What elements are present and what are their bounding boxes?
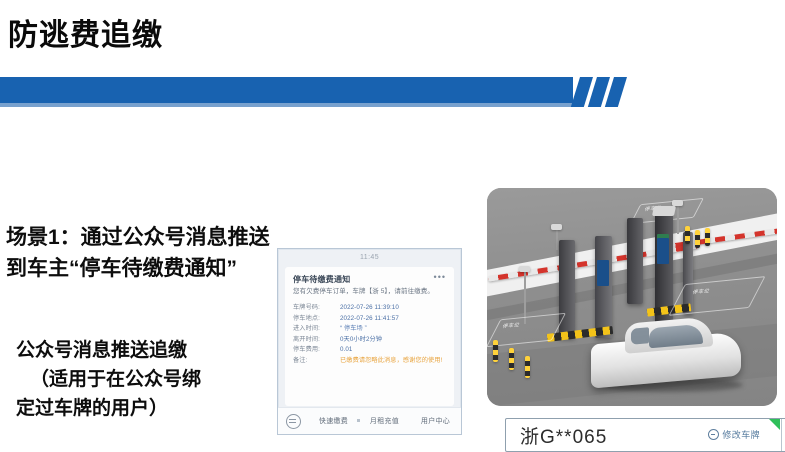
terminal-canopy <box>652 206 676 216</box>
table-row: 进入时间: “ 停车场 ” <box>293 324 446 335</box>
row-value: “ 停车场 ” <box>340 324 367 335</box>
note-line-2: （适用于在公众号绑 <box>16 365 276 394</box>
keyboard-icon[interactable] <box>278 414 308 429</box>
gate-pillar <box>627 218 643 304</box>
table-row: 备注: 已缴费请忽略此消息，感谢您的使用! <box>293 356 446 367</box>
gate-pillar <box>559 240 575 338</box>
note-line-1: 公众号消息推送追缴 <box>16 340 187 361</box>
license-plate-number: 浙G**065 <box>520 422 607 449</box>
camera-icon <box>519 266 530 272</box>
bollard <box>705 228 710 246</box>
row-value: 2022-07-26 11:39:10 <box>340 303 399 314</box>
bollard <box>695 230 700 248</box>
table-row: 停车费用: 0.01 <box>293 345 446 356</box>
scenario-text: 场景1：通过公众号消息推送到车主“停车待缴费通知” <box>6 222 274 284</box>
more-options-icon[interactable]: ••• <box>434 274 446 280</box>
edit-plate-label: 修改车牌 <box>722 428 760 441</box>
edit-circle-icon <box>708 429 719 440</box>
row-value: 2022-07-26 11:41:57 <box>340 314 399 325</box>
table-row: 停车地点: 2022-07-26 11:41:57 <box>293 314 446 325</box>
slide-root: 防逃费追缴 场景1：通过公众号消息推送到车主“停车待缴费通知” 公众号消息推送追… <box>0 0 785 450</box>
row-value: 0.01 <box>340 345 352 356</box>
status-bar-time: 11:45 <box>278 249 461 266</box>
camera-icon <box>551 224 562 230</box>
page-title: 防逃费追缴 <box>8 10 163 54</box>
row-value: 已缴费请忽略此消息，感谢您的使用! <box>340 356 442 365</box>
table-row: 离开时间: 0天0小时2分钟 <box>293 335 446 346</box>
terminal-screen <box>657 238 669 264</box>
note-line-3: 定过车牌的用户） <box>16 394 276 423</box>
row-label: 离开时间: <box>293 335 340 346</box>
car-side-window <box>631 327 649 345</box>
notification-detail-rows: 车牌号码: 2022-07-26 11:39:10 停车地点: 2022-07-… <box>285 303 454 366</box>
row-label: 停车费用: <box>293 345 340 356</box>
table-row: 车牌号码: 2022-07-26 11:39:10 <box>293 303 446 314</box>
terminal-screen <box>597 260 609 286</box>
car-illustration <box>591 316 741 394</box>
accent-bar-group <box>0 77 785 107</box>
footer-tab-monthly-recharge[interactable]: 月租充值 <box>359 416 410 426</box>
bollard <box>525 356 530 378</box>
bollard <box>493 340 498 362</box>
phone-footer-nav: 快速缴费 月租充值 用户中心 <box>278 407 461 434</box>
parking-gate-photo: 停车位 停车位 停车位 <box>487 188 777 406</box>
notification-title: 停车待缴费通知 <box>293 274 350 285</box>
edit-plate-button[interactable]: 修改车牌 <box>708 428 760 441</box>
bollard <box>509 348 514 370</box>
note-block: 公众号消息推送追缴 （适用于在公众号绑 定过车牌的用户） <box>16 336 276 423</box>
notification-card[interactable]: 停车待缴费通知 ••• 您有欠费停车订单，车牌【浙 5】，请前往缴费。 车牌号码… <box>285 267 454 406</box>
row-value: 0天0小时2分钟 <box>340 335 382 346</box>
phone-screenshot: 11:45 停车待缴费通知 ••• 您有欠费停车订单，车牌【浙 5】，请前往缴费… <box>277 248 462 435</box>
notification-body: 您有欠费停车订单，车牌【浙 5】，请前往缴费。 <box>285 287 454 296</box>
bollard <box>685 226 690 244</box>
row-label: 备注: <box>293 356 340 367</box>
accent-bar-shadow <box>0 103 573 107</box>
green-corner-marker <box>769 419 780 430</box>
accent-bar <box>0 77 573 103</box>
notification-header: 停车待缴费通知 ••• <box>285 267 454 287</box>
row-label: 车牌号码: <box>293 303 340 314</box>
footer-tab-quick-pay[interactable]: 快速缴费 <box>308 416 359 426</box>
camera-pole <box>677 206 679 234</box>
row-label: 进入时间: <box>293 324 340 335</box>
plate-card-edge <box>781 419 785 451</box>
camera-pole <box>556 230 558 250</box>
footer-tab-user-center[interactable]: 用户中心 <box>410 416 461 426</box>
license-plate-card[interactable]: 浙G**065 修改车牌 <box>505 418 785 452</box>
row-label: 停车地点: <box>293 314 340 325</box>
